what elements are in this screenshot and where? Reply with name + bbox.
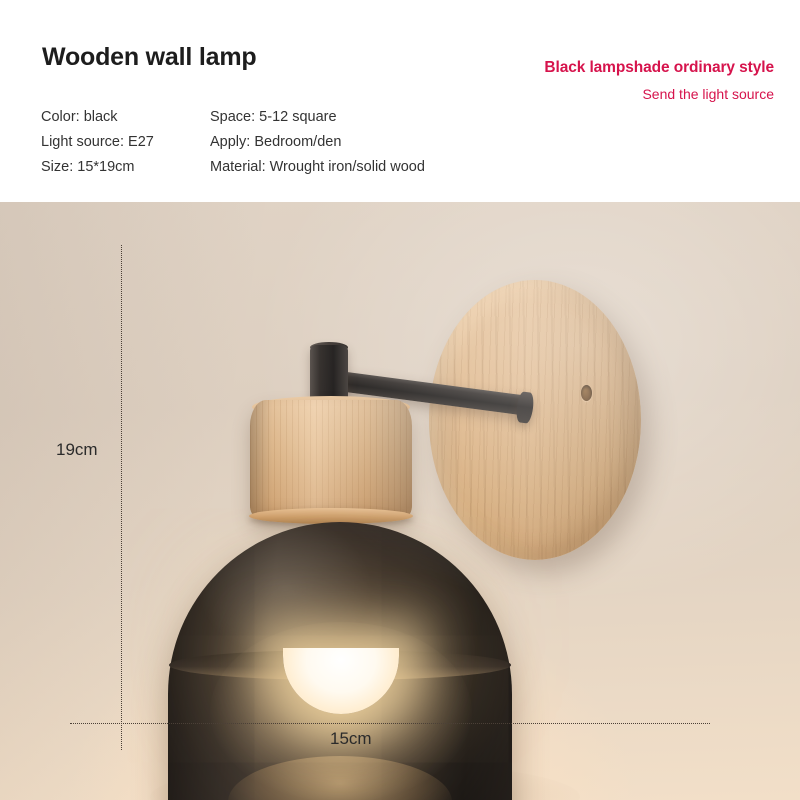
photo-vignette (0, 202, 800, 800)
wooden-wall-plate (429, 280, 641, 560)
lamp-assembly (0, 202, 800, 800)
lamp-swivel-post (310, 345, 348, 403)
spec-item-size: Size: 15*19cm (41, 155, 154, 180)
wooden-lamp-head-lip (249, 508, 413, 524)
product-info-panel: Wooden wall lamp Color: black Light sour… (0, 0, 800, 202)
spec-item-light-source: Light source: E27 (41, 130, 154, 155)
spec-item-material: Material: Wrought iron/solid wood (210, 155, 425, 180)
spec-item-apply: Apply: Bedroom/den (210, 130, 425, 155)
promo-subline: Send the light source (544, 85, 774, 103)
spec-item-space: Space: 5-12 square (210, 105, 425, 130)
page-title: Wooden wall lamp (42, 43, 256, 72)
spec-list-right: Space: 5-12 square Apply: Bedroom/den Ma… (210, 105, 425, 180)
lamp-arm (330, 370, 531, 416)
wooden-lamp-head (250, 400, 412, 520)
spec-item-color: Color: black (41, 105, 154, 130)
lamp-head-top-face (252, 396, 410, 418)
promo-block: Black lampshade ordinary style Send the … (544, 58, 774, 103)
height-guide-line (121, 245, 122, 750)
light-bulb (283, 648, 399, 714)
width-dimension-label: 15cm (330, 729, 372, 749)
height-dimension-label: 19cm (56, 440, 98, 460)
lampshade-rim (169, 650, 511, 680)
product-photo: 19cm 15cm (0, 202, 800, 800)
lamp-swivel-post-cap (310, 342, 348, 353)
screw-hole-icon (581, 385, 592, 401)
width-guide-line (70, 723, 710, 724)
spec-list-left: Color: black Light source: E27 Size: 15*… (41, 105, 154, 180)
lamp-arm-endcap (515, 391, 535, 424)
lamp-cast-shadow (150, 762, 580, 800)
black-dome-lampshade (168, 522, 512, 800)
promo-headline: Black lampshade ordinary style (544, 58, 774, 78)
